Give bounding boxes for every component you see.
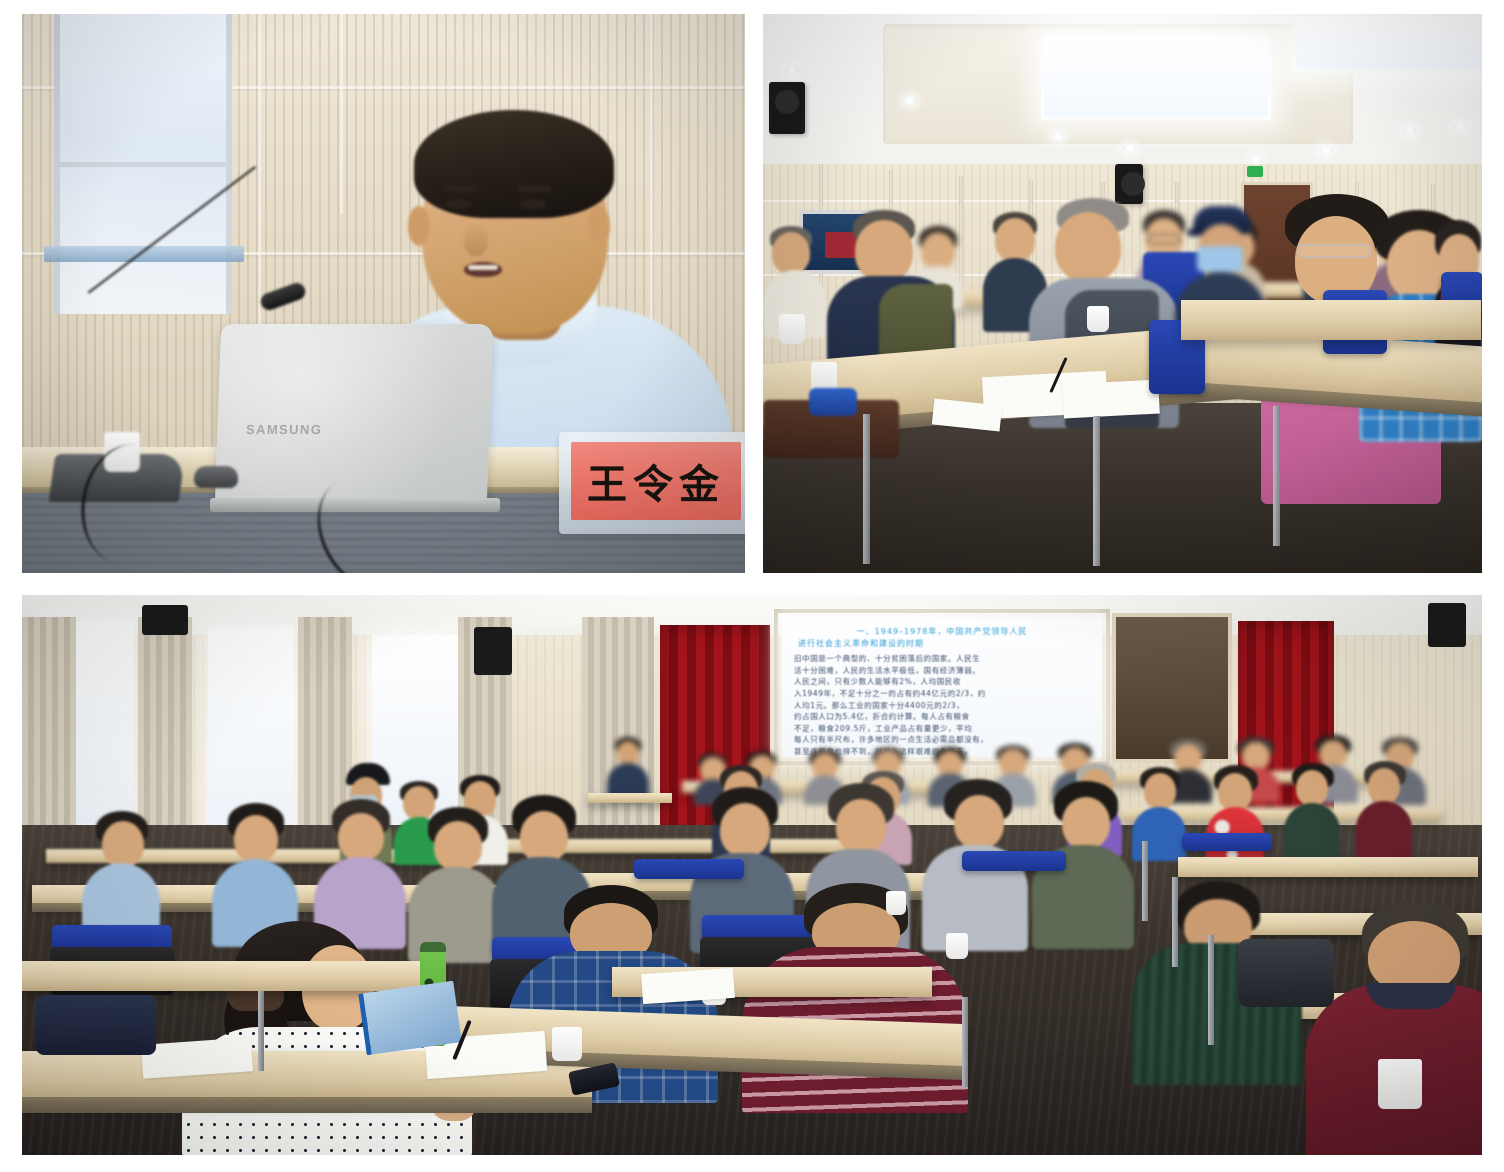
downlight	[1051, 132, 1065, 141]
eye	[446, 200, 472, 209]
table-leg	[1172, 877, 1178, 967]
attendee	[82, 811, 160, 941]
ear	[588, 206, 610, 246]
podium-attendee	[607, 737, 649, 799]
eye	[520, 200, 546, 209]
projection-screen: 一、1949–1978年，中国共产党领导人民 进行社会主义革命和建设的时期 旧中…	[782, 617, 1102, 757]
paper-cup	[946, 933, 968, 959]
wall-speaker	[769, 82, 805, 134]
downlight	[1123, 144, 1137, 153]
exit-sign-icon	[1247, 166, 1263, 177]
audience-front-rows-photo[interactable]	[763, 14, 1482, 573]
table-leg	[1093, 416, 1100, 566]
table-leg	[1142, 841, 1148, 921]
attendee-maroon-shirt-right	[1306, 901, 1482, 1155]
attendee	[1132, 767, 1186, 859]
placard-card: 王令金	[571, 442, 741, 520]
downlight	[1453, 122, 1467, 131]
ceiling-light-panel	[1293, 14, 1482, 72]
chair-backrest	[962, 851, 1066, 871]
downlight	[1403, 126, 1417, 135]
placard-name-text: 王令金	[587, 452, 725, 510]
eyebrow	[518, 186, 550, 192]
wall-speaker	[1428, 603, 1466, 647]
photo-collage: SAMSUNG 王令金	[0, 0, 1504, 1172]
mouth	[464, 262, 502, 277]
speaker-at-podium-photo[interactable]: SAMSUNG 王令金	[22, 14, 745, 573]
downlight	[1319, 146, 1333, 155]
slide-title-line: 一、1949–1978年，中国共产党领导人民	[794, 626, 1090, 638]
table-leg	[863, 414, 870, 564]
table-leg	[1273, 406, 1280, 546]
notepad	[1062, 380, 1160, 419]
table	[1178, 857, 1478, 877]
table-leg	[1208, 935, 1214, 1045]
blue-folder	[358, 981, 462, 1056]
window-frame	[54, 162, 232, 167]
name-placard: 王令金	[567, 438, 745, 530]
paper-cup	[779, 314, 805, 344]
attendee	[1284, 763, 1340, 859]
paper-cup	[552, 1027, 582, 1061]
table	[22, 961, 442, 991]
table-leg	[258, 991, 264, 1071]
paper-cup	[886, 891, 906, 915]
eyebrow	[444, 186, 476, 192]
ceiling-light-panel	[1041, 34, 1271, 120]
wall-speaker	[142, 605, 188, 635]
podium-table	[588, 793, 672, 803]
wall-speaker	[474, 627, 512, 675]
laptop-lid	[215, 324, 493, 502]
wide-lecture-hall-photo[interactable]: 一、1949–1978年，中国共产党领导人民 进行社会主义革命和建设的时期 旧中…	[22, 595, 1482, 1155]
blue-pouch	[809, 388, 857, 416]
table-leg	[962, 997, 968, 1087]
hair	[414, 110, 614, 218]
slide-body-text: 旧中国是一个典型的、十分贫困落后的国家。人民生活十分困难，人民的生活水平极低，国…	[794, 653, 1090, 757]
paper-cup-foreground	[1378, 1059, 1422, 1109]
collar	[1366, 983, 1456, 1009]
paper-cup	[1087, 306, 1109, 332]
jacket-on-table	[36, 995, 156, 1055]
downlight	[903, 96, 917, 105]
chair-backrest	[1182, 833, 1272, 851]
chair-backrest	[634, 859, 744, 879]
downlight	[785, 66, 799, 75]
laptop-brand-label: SAMSUNG	[246, 422, 323, 437]
notepad	[641, 968, 735, 1004]
rear-table	[1181, 300, 1481, 340]
ear	[408, 206, 430, 246]
slide-subtitle-line: 进行社会主义革命和建设的时期	[794, 638, 1090, 650]
computer-mouse[interactable]	[194, 466, 238, 488]
backpack	[1238, 939, 1334, 1007]
wall-panel-line	[340, 14, 343, 214]
nose	[464, 222, 488, 256]
table-edge	[22, 1097, 592, 1113]
attendee	[1356, 761, 1412, 859]
